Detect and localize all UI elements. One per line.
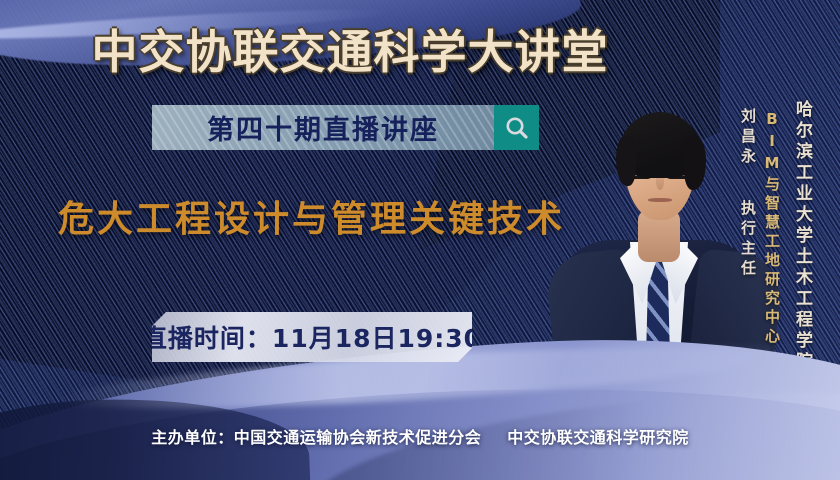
footer-co-organizer: 中交协联交通科学研究院 [507,428,689,447]
search-icon-box[interactable] [494,105,539,150]
broadcast-time-label: 直播时间：11月18日19:30 [142,319,482,355]
speaker-research-center: BIM与智慧工地研究中心 [762,110,783,347]
speaker-hair-side-right [684,136,706,190]
speaker-hair-side-left [616,136,636,186]
footer-organizers: 主办单位：中国交通运输协会新技术促进分会 中交协联交通科学研究院 [0,424,840,448]
footer-organizer: 主办单位：中国交通运输协会新技术促进分会 [151,428,481,447]
lecture-title: 危大工程设计与管理关键技术 [58,190,565,242]
speaker-role: 执行主任 [738,200,759,280]
speaker-mouth [648,198,672,202]
page-title: 中交协联交通科学大讲堂 [0,16,700,82]
episode-banner: 第四十期直播讲座 [152,105,494,150]
episode-label: 第四十期直播讲座 [207,108,439,147]
broadcast-time-badge: 直播时间：11月18日19:30 [152,312,472,362]
search-icon [504,115,530,141]
speaker-organization: 哈尔滨工业大学土木工程学院 [790,100,815,373]
speaker-name: 刘昌永 [738,108,759,168]
webinar-poster: 中交协联交通科学大讲堂 第四十期直播讲座 危大工程设计与管理关键技术 [0,0,840,480]
